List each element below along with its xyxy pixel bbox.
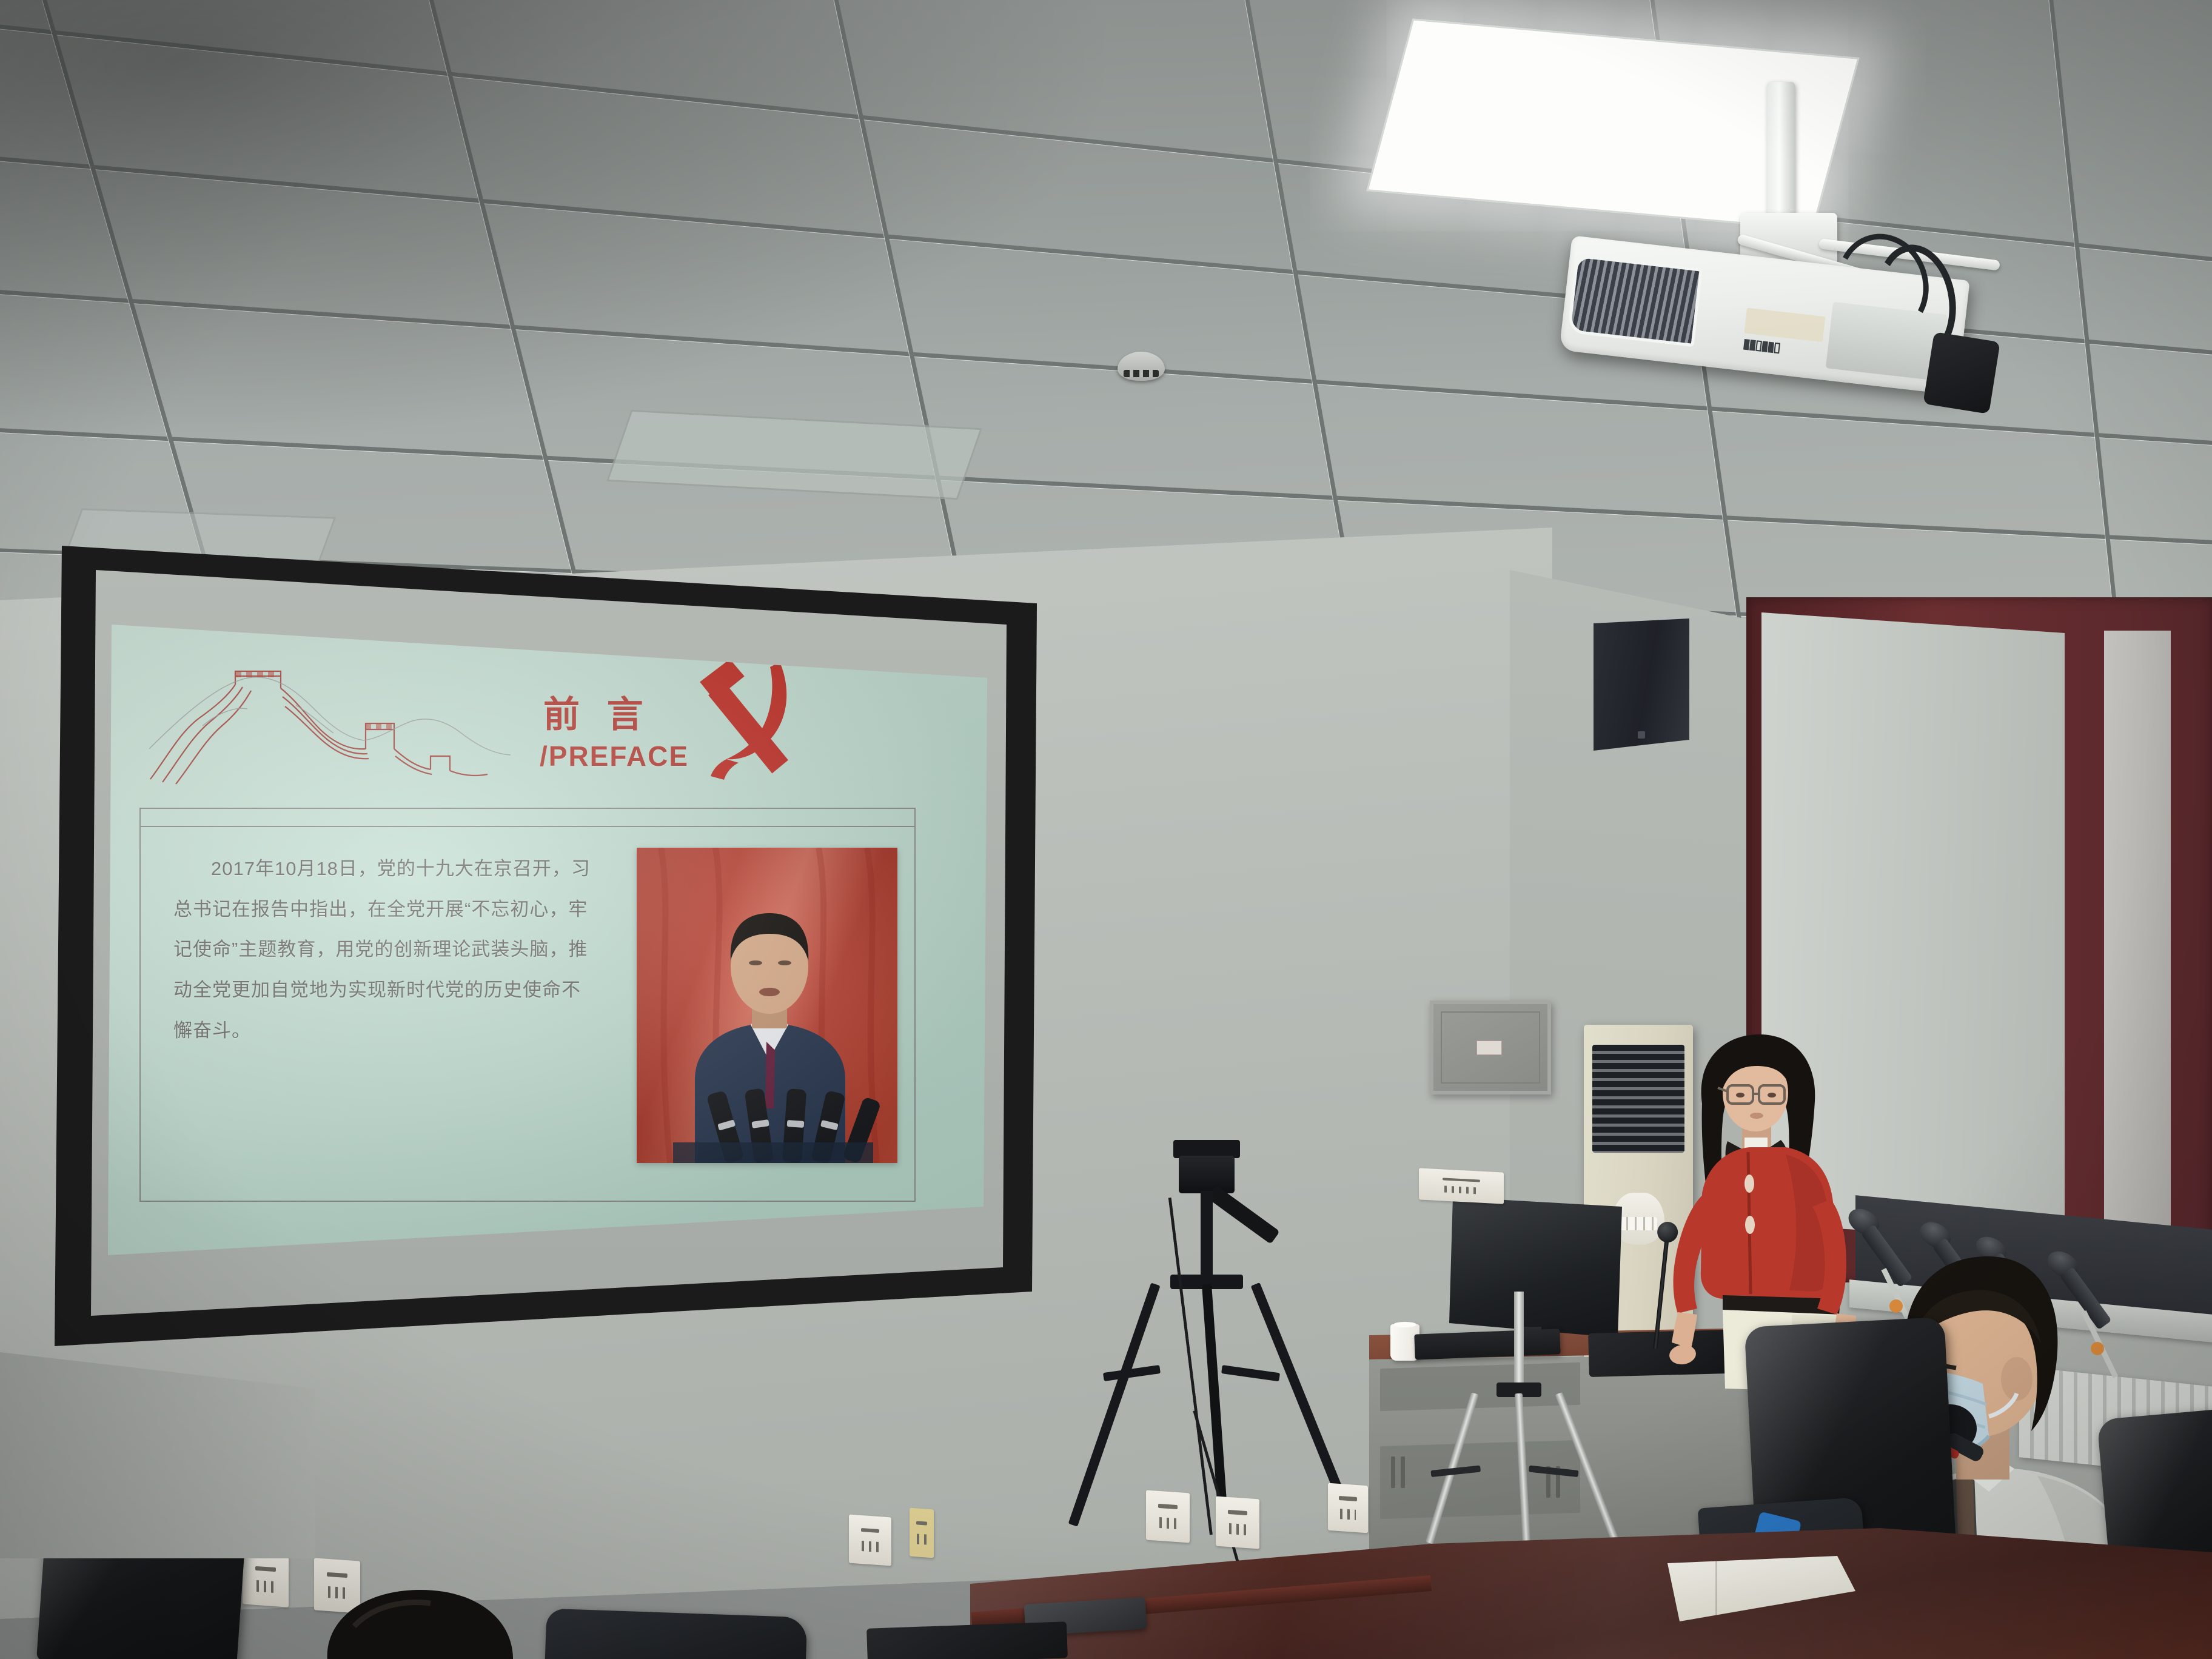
wall-power-outlet[interactable] xyxy=(1146,1490,1190,1543)
wall-speaker xyxy=(1594,618,1689,751)
tripod-stand xyxy=(1443,1292,1595,1552)
left-wall-lower xyxy=(0,1352,315,1558)
person-foreground-attendee xyxy=(321,1577,521,1659)
conference-room-scene: ▮▮▯▮▮▯ xyxy=(0,0,2212,1659)
projector-vent-icon xyxy=(1567,254,1703,347)
projector-cable-bundle xyxy=(1923,332,2000,414)
cpc-hammer-sickle-emblem xyxy=(689,656,810,786)
tripod-secondary-column xyxy=(1514,1292,1524,1389)
photo-speaker-figure xyxy=(637,848,897,1163)
wall-power-outlet-7[interactable] xyxy=(1328,1483,1368,1533)
wall-power-outlet-6[interactable] xyxy=(910,1508,934,1558)
wall-power-outlet-2[interactable] xyxy=(1216,1496,1259,1549)
projector-mount-pole xyxy=(1767,82,1795,221)
wall-electrical-cabinet xyxy=(1430,1000,1551,1094)
slide-title-cn: 前 言 xyxy=(543,685,652,738)
projector-brand-text: ▮▮▯▮▮▯ xyxy=(1742,335,1780,355)
coat-on-chair-foreground xyxy=(545,1609,808,1659)
podium-vent-icon xyxy=(1391,1456,1395,1488)
tripod-secondary-brace-r xyxy=(1529,1466,1579,1478)
projected-slide: 前 言 /PREFACE 2017年10月18日，党的 xyxy=(108,625,987,1255)
slide-box-divider xyxy=(141,826,914,827)
cabinet-label-sticker xyxy=(1476,1041,1501,1055)
wall-switch-plate[interactable] xyxy=(1419,1168,1504,1204)
tripod-secondary-leg-center xyxy=(1515,1393,1530,1543)
slide-title-en: /PREFACE xyxy=(540,740,689,773)
podium-vent-icon-2 xyxy=(1401,1456,1405,1488)
camera-body xyxy=(1179,1156,1235,1193)
wall-power-outlet-5[interactable] xyxy=(849,1515,891,1566)
slide-photo xyxy=(637,848,897,1163)
foreground-object xyxy=(866,1621,1068,1659)
window-curtain-right xyxy=(2104,631,2171,1249)
great-wall-illustration xyxy=(144,658,520,788)
wall-power-outlet-3[interactable] xyxy=(243,1552,289,1607)
slide-body-text: 2017年10月18日，党的十九大在京召开，习总书记在报告中指出，在全党开展“不… xyxy=(173,849,598,1051)
